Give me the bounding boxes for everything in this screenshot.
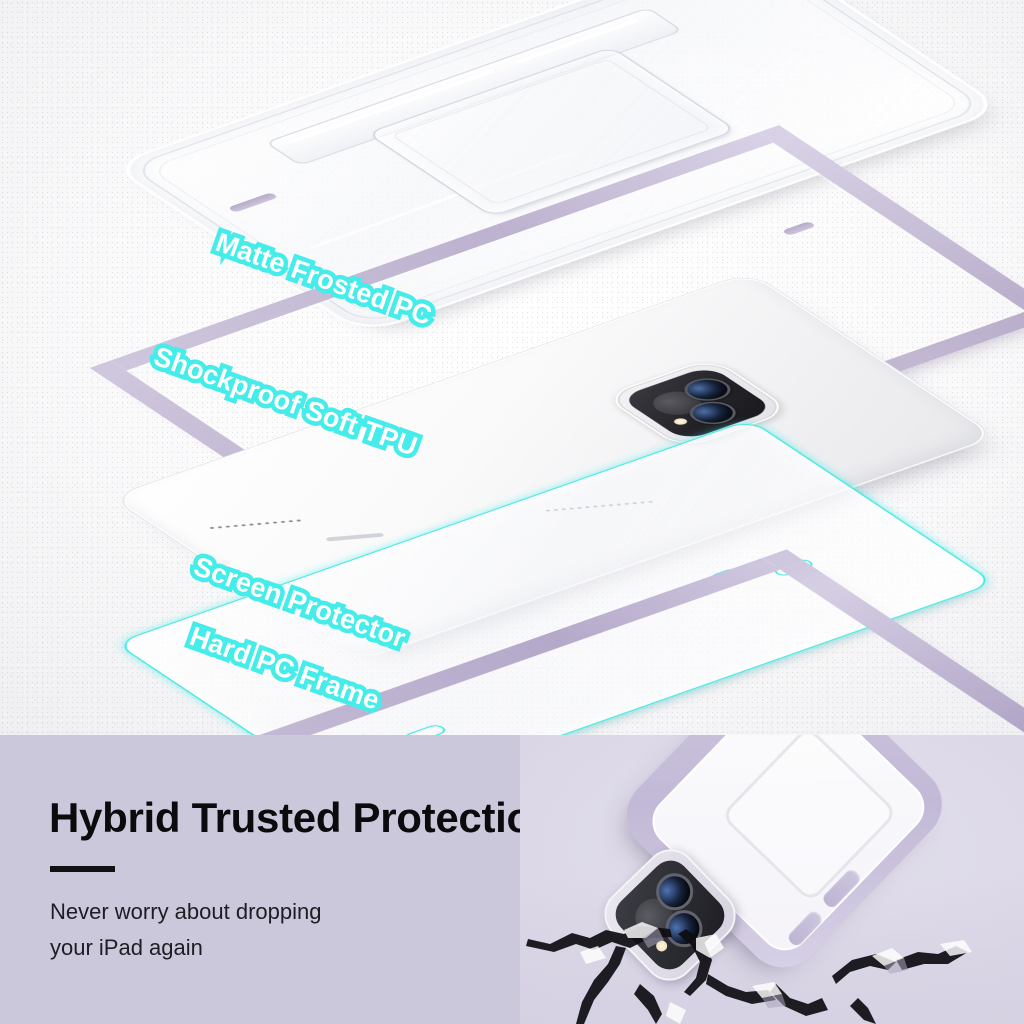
banner-copy-block: Hybrid Trusted Protection Never worry ab… [49,797,589,965]
banner-headline: Hybrid Trusted Protection [49,797,589,839]
exploded-view-scene: Matte Frosted PC Shockproof Soft TPU Scr… [0,0,1024,735]
headline-divider-rule [50,866,115,872]
layer-hard-pc-frame [40,330,1024,735]
product-marketing-image: Matte Frosted PC Shockproof Soft TPU Scr… [0,0,1024,1024]
impact-cracks [520,834,1024,1024]
banner-subtitle-line-2: your iPad again [50,930,589,966]
banner-subtitle-line-1: Never worry about dropping [50,894,589,930]
banner-subtitle: Never worry about dropping your iPad aga… [50,894,589,965]
feature-banner: Hybrid Trusted Protection Never worry ab… [0,735,1024,1024]
drop-impact-photo [520,735,1024,1024]
